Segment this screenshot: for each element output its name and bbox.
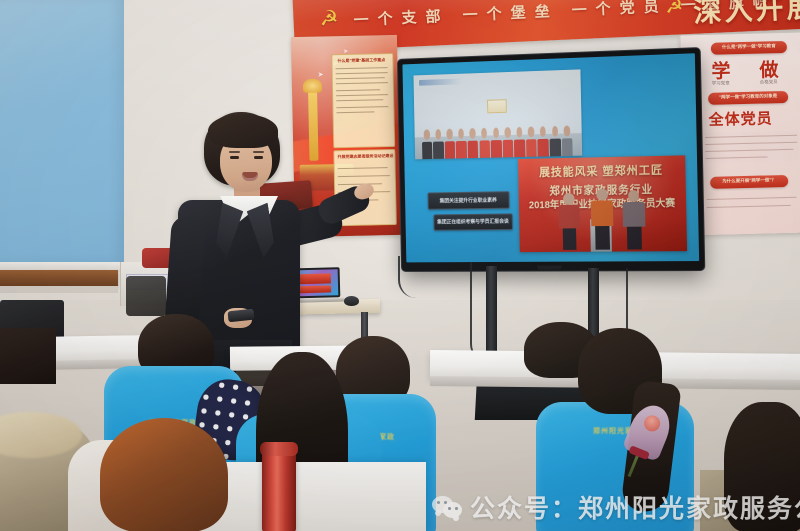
poster-pill-3-text: 为什么要开展"两学一做"？ <box>710 177 788 185</box>
window-sill <box>0 270 118 286</box>
presenter-eye-left <box>230 156 239 159</box>
presentation-tv[interactable]: 展技能风采 塑郑州工匠 郑州市家政服务行业 2018年度职业技能家政服务员大赛 … <box>398 48 704 271</box>
presenter-eyebrow-left <box>229 151 240 153</box>
hammer-sickle-icon-2: ☭ <box>665 0 684 19</box>
poster-pill-2: "两学一做"学习教育的对象是 <box>708 91 788 105</box>
wechat-watermark: 公众号：郑州阳光家政服务公司 <box>432 489 800 525</box>
audience-member-orange-hair <box>100 418 228 531</box>
banner-right-text: 深入开展 <box>693 0 800 31</box>
poster-sub-left: 学习党章 <box>712 80 730 86</box>
poster-pill-3: 为什么要开展"两学一做"？ <box>710 175 788 189</box>
computer-mouse[interactable] <box>344 296 359 306</box>
screenshot-root: ☭ 一个支部 一个堡垒 一个党员 一面旗帜 ☭ 深入开展 ➤ ➤ ➤ 什么是"党… <box>0 0 800 531</box>
presenter-eye-right <box>254 156 263 159</box>
poster-sub-right: 合格党员 <box>760 79 778 85</box>
wechat-icon <box>432 494 462 520</box>
red-thermos <box>262 446 296 531</box>
tv-screen: 展技能风采 塑郑州工匠 郑州市家政服务行业 2018年度职业技能家政服务员大赛 … <box>402 53 699 262</box>
background-chair <box>126 276 166 316</box>
watermark-text: 公众号：郑州阳光家政服务公司 <box>470 489 800 525</box>
poster-heading-all-members: 全体党员 <box>708 107 773 130</box>
poster-pill-2-text: "两学一做"学习教育的对象是 <box>708 93 788 101</box>
poster-pill-1-text: 什么是"两学一做"学习教育 <box>711 43 787 51</box>
thermos-cap <box>260 442 298 456</box>
poster-text-line <box>707 205 791 208</box>
tv-brand-logo <box>537 266 562 270</box>
poster-panel-title: 什么是"党建"基层工作重点 <box>337 57 385 64</box>
tv-cable <box>398 256 444 298</box>
presenter-hair-fringe <box>208 114 278 148</box>
window-blind <box>0 0 124 264</box>
window-sill-lower <box>0 286 118 293</box>
dove-icon-2: ➤ <box>318 70 324 78</box>
poster-pill-1: 什么是"两学一做"学习教育 <box>711 41 787 55</box>
hammer-sickle-icon: ☭ <box>319 8 344 33</box>
poster-section-title: 开展党建志愿者服务活动记建设 <box>337 153 393 160</box>
presenter-eyebrow-right <box>253 151 264 153</box>
audience-member-front-left-hair <box>0 328 56 384</box>
screen-vignette <box>402 53 699 262</box>
poster-text-line <box>707 197 797 200</box>
